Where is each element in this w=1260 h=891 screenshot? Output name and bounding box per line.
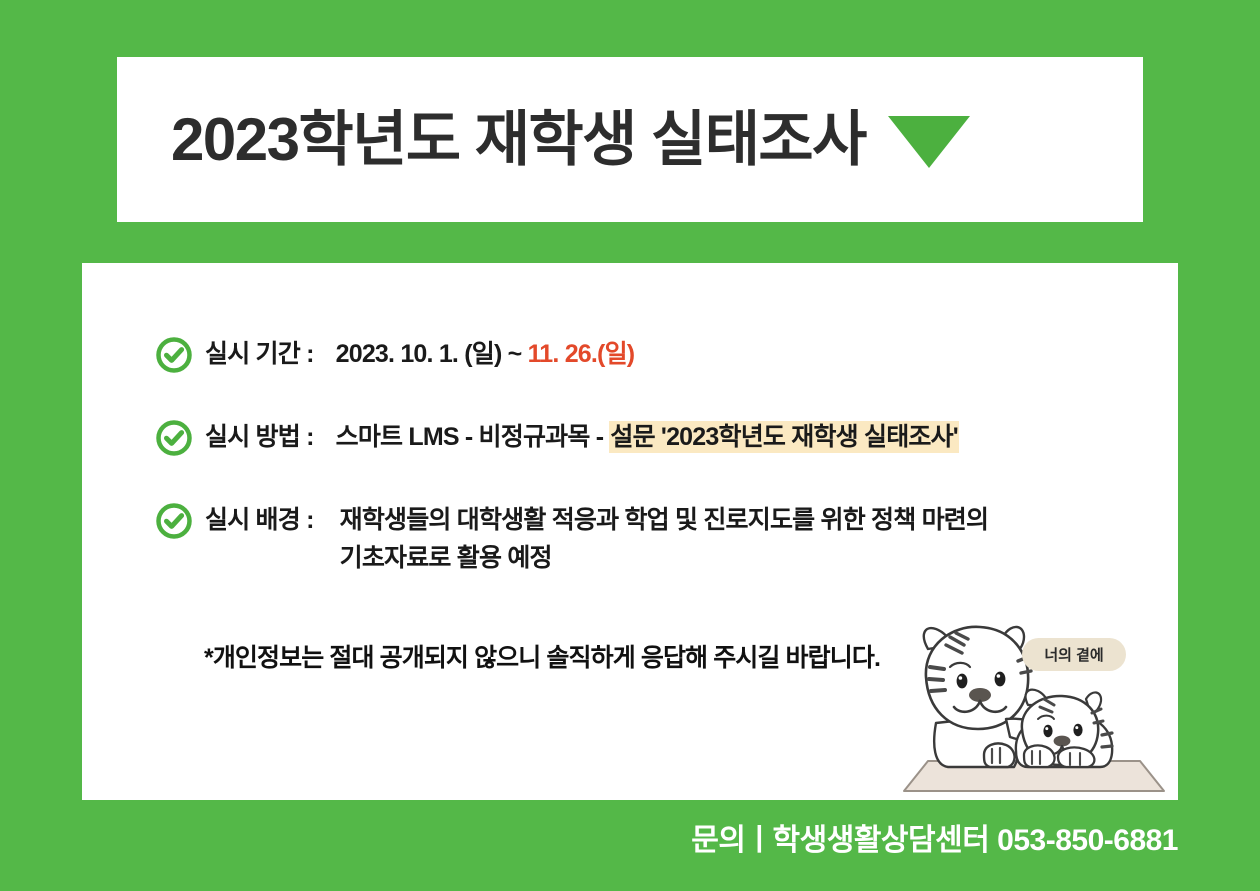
info-row-label: 실시 배경 : — [205, 501, 314, 539]
info-row-value: 스마트 LMS - 비정규과목 - 설문 '2023학년도 재학생 실태조사' — [336, 418, 959, 456]
title-card: 2023학년도 재학생 실태조사 — [117, 57, 1143, 222]
privacy-note: *개인정보는 절대 공개되지 않으니 솔직하게 응답해 주시길 바랍니다. — [204, 638, 880, 674]
check-circle-icon — [155, 502, 193, 540]
period-plain-text: 2023. 10. 1. (일) ~ — [336, 340, 528, 368]
check-circle-icon — [155, 336, 193, 374]
background-line-2: 기초자료로 활용 예정 — [340, 539, 989, 577]
background-line-1: 재학생들의 대학생활 적응과 학업 및 진로지도를 위한 정책 마련의 — [340, 506, 989, 534]
triangle-down-icon — [888, 116, 970, 168]
footer-contact: 문의ㅣ학생생활상담센터 053-850-6881 — [0, 815, 1178, 859]
info-row-method: 실시 방법 : 스마트 LMS - 비정규과목 - 설문 '2023학년도 재학… — [155, 418, 1178, 457]
info-row-background: 실시 배경 : 재학생들의 대학생활 적응과 학업 및 진로지도를 위한 정책 … — [155, 501, 1178, 577]
period-end-date: 11. 26.(일) — [528, 340, 635, 368]
check-circle-icon — [155, 419, 193, 457]
info-rows: 실시 기간 : 2023. 10. 1. (일) ~ 11. 26.(일) 실시… — [155, 335, 1178, 577]
info-row-period: 실시 기간 : 2023. 10. 1. (일) ~ 11. 26.(일) — [155, 335, 1178, 374]
info-row-label: 실시 방법 : — [205, 418, 314, 456]
info-row-value: 2023. 10. 1. (일) ~ 11. 26.(일) — [336, 335, 635, 373]
page-title: 2023학년도 재학생 실태조사 — [171, 110, 866, 170]
info-row-label: 실시 기간 : — [205, 335, 314, 373]
survey-name-highlight: 설문 '2023학년도 재학생 실태조사' — [609, 421, 959, 453]
main-content-card: 실시 기간 : 2023. 10. 1. (일) ~ 11. 26.(일) 실시… — [82, 263, 1178, 800]
method-plain-text: 스마트 LMS - 비정규과목 - — [336, 423, 610, 451]
tiger-mascot-illustration: 너의 곁에 — [888, 605, 1178, 800]
speech-bubble-text: 너의 곁에 — [1044, 646, 1103, 664]
info-row-value: 재학생들의 대학생활 적응과 학업 및 진로지도를 위한 정책 마련의 기초자료… — [340, 501, 989, 577]
